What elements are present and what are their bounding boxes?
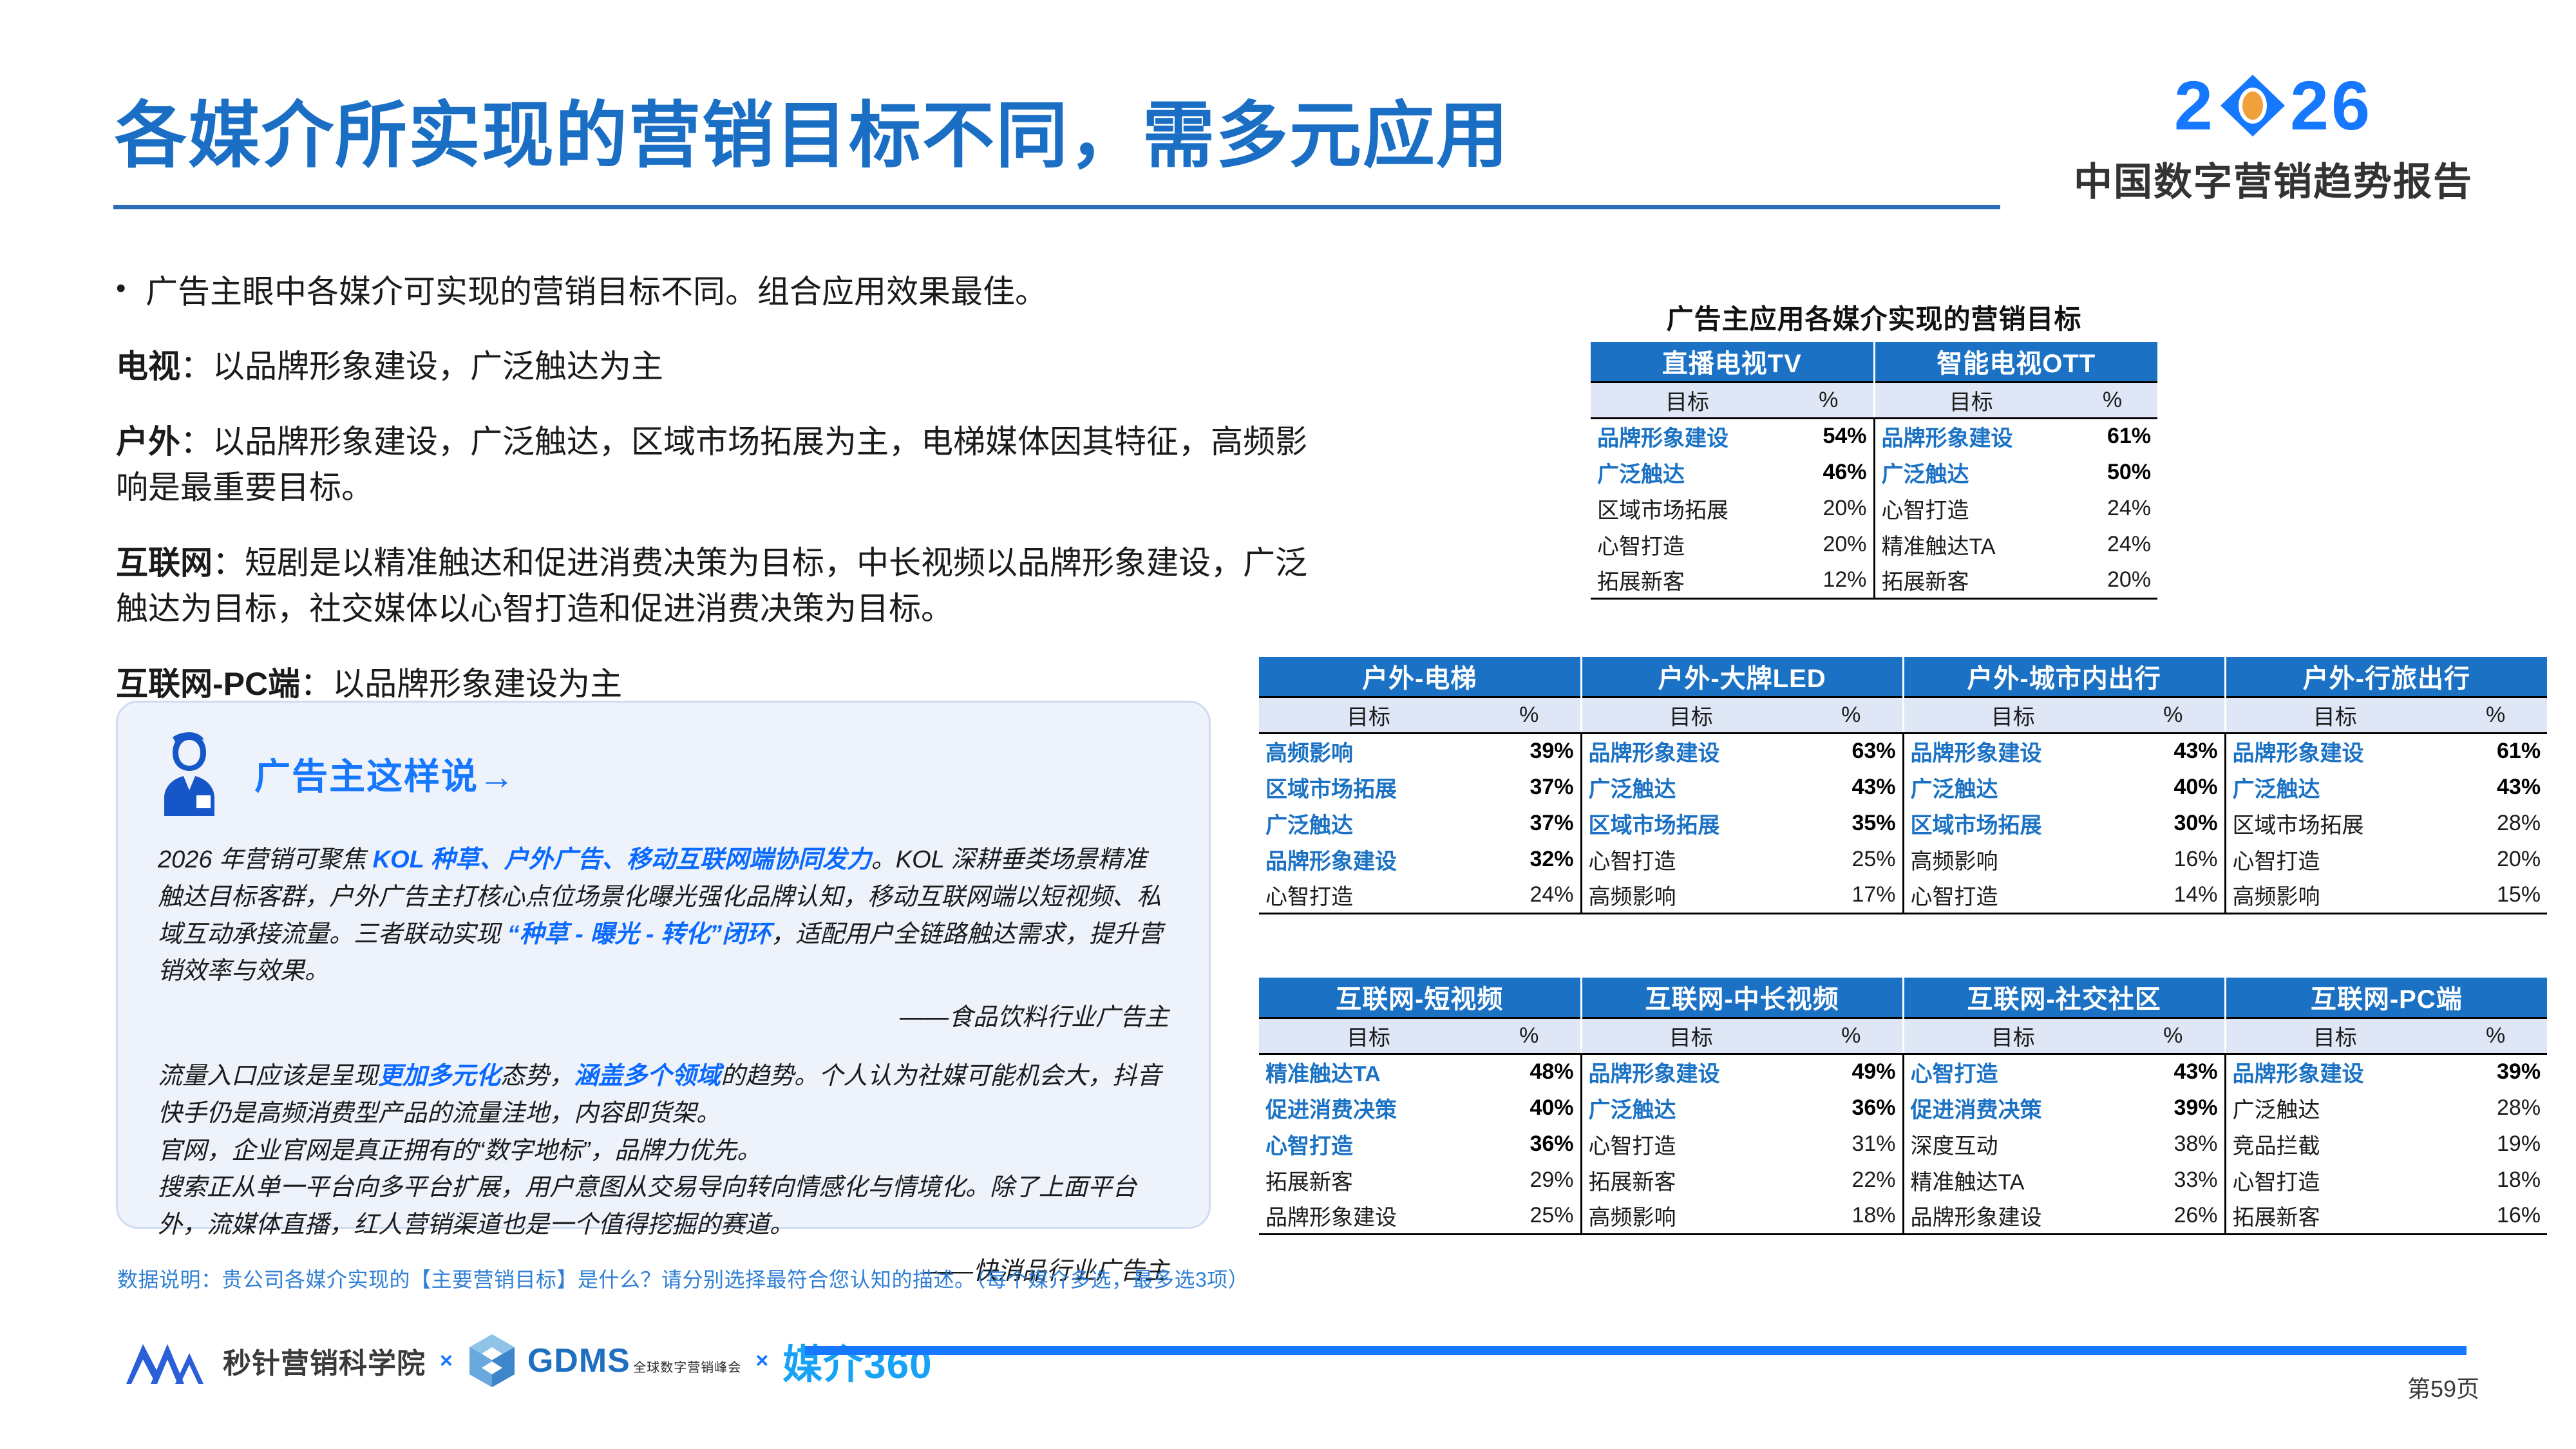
row-value: 20% [1784,526,1874,562]
subheader-goal-1: 目标 [1874,382,2067,418]
row-label: 品牌形象建设 [2225,733,2444,769]
row-value: 35% [1800,805,1903,841]
row-label: 心智打造 [2225,1162,2444,1198]
row-label: 促进消费决策 [1259,1090,1478,1126]
row-value: 19% [2444,1126,2547,1162]
row-label: 高频影响 [1903,841,2122,877]
advertiser-avatar-icon [151,731,227,816]
row-value: 18% [2444,1162,2547,1198]
para-internet-pc-text: 以品牌形象建设为主 [332,666,622,702]
title-divider [113,205,2000,209]
row-value: 61% [2444,733,2547,769]
row-label: 心智打造 [1581,841,1800,877]
table-row: 高频影响39%品牌形象建设63%品牌形象建设43%品牌形象建设61% [1259,733,2547,769]
left-text-column: • 广告主眼中各媒介可实现的营销目标不同。组合应用效果最佳。 电视：以品牌形象建… [116,270,1327,707]
row-value: 22% [1800,1162,1903,1198]
row-value: 29% [1478,1162,1581,1198]
subheader-goal-2: 目标 [1903,697,2122,733]
row-value: 38% [2122,1126,2225,1162]
row-label: 拓展新客 [1259,1162,1478,1198]
table-header-row: 互联网-短视频互联网-中长视频互联网-社交社区互联网-PC端 [1259,978,2547,1018]
row-label: 精准触达TA [1259,1054,1478,1090]
table-header-0: 户外-电梯 [1259,657,1581,697]
brand-year-left: 2 [2174,71,2215,140]
gdms-label: GDMS [527,1342,630,1379]
row-value: 18% [1800,1198,1903,1234]
table-row: 促进消费决策40%广泛触达36%促进消费决策39%广泛触达28% [1259,1090,2547,1126]
row-value: 16% [2444,1198,2547,1234]
row-label: 广泛触达 [1591,454,1784,490]
subheader-pct-0: % [1784,382,1874,418]
row-label: 深度互动 [1903,1126,2122,1162]
table-row: 广泛触达37%区域市场拓展35%区域市场拓展30%区域市场拓展28% [1259,805,2547,841]
bullet-line: • 广告主眼中各媒介可实现的营销目标不同。组合应用效果最佳。 [116,270,1327,314]
subheader-pct-3: % [2444,697,2547,733]
row-value: 17% [1800,877,1903,913]
row-label: 品牌形象建设 [1581,1054,1800,1090]
row-value: 28% [2444,1090,2547,1126]
media-goals-table-outdoor: 户外-电梯户外-大牌LED户外-城市内出行户外-行旅出行目标%目标%目标%目标%… [1259,657,2547,914]
eye-logo-icon [2218,73,2287,138]
row-label: 广泛触达 [1903,769,2122,805]
row-value: 54% [1784,418,1874,454]
gdms-mark-icon [467,1333,517,1388]
row-label: 品牌形象建设 [1591,418,1784,454]
row-label: 品牌形象建设 [1581,733,1800,769]
row-label: 广泛触达 [2225,1090,2444,1126]
gdms-sublabel: 全球数字营销峰会 [633,1361,741,1375]
data-note: 数据说明：贵公司各媒介实现的【主要营销目标】是什么？请分别选择最符合您认知的描述… [117,1264,1249,1293]
subheader-pct-1: % [1800,697,1903,733]
row-label: 心智打造 [1581,1126,1800,1162]
row-value: 43% [2122,1054,2225,1090]
table-header-3: 互联网-PC端 [2225,978,2547,1018]
row-label: 心智打造 [1259,877,1478,913]
row-label: 品牌形象建设 [1259,841,1478,877]
table-header-row: 直播电视TV智能电视OTT [1591,342,2157,382]
row-value: 46% [1784,454,1874,490]
quote-spacer [158,1032,1169,1058]
row-value: 43% [1800,769,1903,805]
row-label: 拓展新客 [1874,562,2067,598]
subheader-pct-3: % [2444,1018,2547,1054]
row-value: 43% [2122,733,2225,769]
para-outdoor-sep: ： [180,424,213,460]
subheader-pct-2: % [2122,1018,2225,1054]
report-brand: 2 26 中国数字营销趋势报告 [2067,71,2479,207]
row-label: 高频影响 [1259,733,1478,769]
row-value: 36% [1478,1126,1581,1162]
subheader-goal-3: 目标 [2225,1018,2444,1054]
para-tv-text: 以品牌形象建设，广泛触达为主 [213,348,663,384]
subheader-goal-1: 目标 [1581,1018,1800,1054]
row-value: 28% [2444,805,2547,841]
row-label: 品牌形象建设 [1259,1198,1478,1234]
para-tv-sep: ： [180,348,213,384]
bullet-text: 广告主眼中各媒介可实现的营销目标不同。组合应用效果最佳。 [146,270,1047,314]
q2-seg-6: 搜索正从单一平台向多平台扩展，用户意图从交易导向转向情感化与情境化。除了上面平台… [158,1174,1137,1238]
row-label: 广泛触达 [2225,769,2444,805]
brand-subtitle: 中国数字营销趋势报告 [2067,151,2479,207]
row-value: 40% [2122,769,2225,805]
row-label: 心智打造 [1903,877,2122,913]
table-row: 品牌形象建设25%高频影响18%品牌形象建设26%拓展新客16% [1259,1198,2547,1234]
quote-body: 2026 年营销可聚焦 KOL 种草、户外广告、移动互联网端协同发力。KOL 深… [118,816,1209,1286]
para-internet-pc-label: 互联网-PC端 [116,666,300,702]
gdms-logo: GDMS 全球数字营销峰会 [467,1333,741,1388]
q2-seg-2: 态势， [500,1063,574,1090]
subheader-pct-1: % [1800,1018,1903,1054]
bullet-dot-icon: • [116,270,146,306]
subheader-goal-1: 目标 [1581,697,1800,733]
row-value: 31% [1800,1126,1903,1162]
para-internet: 互联网：短剧是以精准触达和促进消费决策为目标，中长视频以品牌形象建设，广泛触达为… [116,540,1327,632]
row-value: 14% [2122,877,2225,913]
table-row: 品牌形象建设54%品牌形象建设61% [1591,418,2157,454]
subheader-pct-0: % [1478,1018,1581,1054]
subheader-goal-2: 目标 [1903,1018,2122,1054]
footer-divider [805,1346,2467,1355]
row-label: 心智打造 [1259,1126,1478,1162]
row-value: 24% [2067,490,2157,526]
table-group-outdoor: 户外-电梯户外-大牌LED户外-城市内出行户外-行旅出行目标%目标%目标%目标%… [1259,657,2547,914]
table-row: 拓展新客29%拓展新客22%精准触达TA33%心智打造18% [1259,1162,2547,1198]
row-label: 广泛触达 [1581,1090,1800,1126]
mediajie360-label: 媒介360 [782,1332,932,1390]
q2-seg-5: 官网，企业官网是真正拥有的“数字地标”，品牌力优先。 [158,1137,761,1164]
row-value: 24% [1478,877,1581,913]
row-label: 促进消费决策 [1903,1090,2122,1126]
para-tv: 电视：以品牌形象建设，广泛触达为主 [116,344,1327,390]
table-group-internet: 互联网-短视频互联网-中长视频互联网-社交社区互联网-PC端目标%目标%目标%目… [1259,978,2547,1235]
table-header-row: 户外-电梯户外-大牌LED户外-城市内出行户外-行旅出行 [1259,657,2547,697]
row-value: 20% [1784,490,1874,526]
q2-seg-3: 涵盖多个领域 [574,1063,721,1090]
table-row: 区域市场拓展37%广泛触达43%广泛触达40%广泛触达43% [1259,769,2547,805]
miaozhen-label: 秒针营销科学院 [223,1340,426,1381]
row-value: 33% [2122,1162,2225,1198]
subheader-goal-0: 目标 [1259,1018,1478,1054]
para-outdoor-label: 户外 [116,424,180,460]
row-value: 39% [2444,1054,2547,1090]
row-label: 品牌形象建设 [1874,418,2067,454]
page-number: 第59页 [2407,1370,2479,1404]
para-outdoor: 户外：以品牌形象建设，广泛触达，区域市场拓展为主，电梯媒体因其特征，高频影响是最… [116,419,1327,511]
table-row: 区域市场拓展20%心智打造24% [1591,490,2157,526]
table-header-1: 智能电视OTT [1874,342,2157,382]
para-internet-sep: ： [213,545,245,581]
row-label: 拓展新客 [1581,1162,1800,1198]
row-label: 拓展新客 [2225,1198,2444,1234]
row-label: 广泛触达 [1874,454,2067,490]
row-label: 区域市场拓展 [2225,805,2444,841]
row-value: 12% [1784,562,1874,598]
row-value: 40% [1478,1090,1581,1126]
table-row: 心智打造36%心智打造31%深度互动38%竞品拦截19% [1259,1126,2547,1162]
miaozhen-mark-icon [122,1335,206,1387]
row-value: 36% [1800,1090,1903,1126]
row-label: 区域市场拓展 [1259,769,1478,805]
para-tv-label: 电视 [116,348,180,384]
row-value: 61% [2067,418,2157,454]
brand-year: 2 26 [2067,71,2479,140]
table-header-1: 户外-大牌LED [1581,657,1903,697]
row-value: 16% [2122,841,2225,877]
row-label: 心智打造 [1903,1054,2122,1090]
row-label: 心智打造 [2225,841,2444,877]
table-group-tv: 广告主应用各媒介实现的营销目标 直播电视TV智能电视OTT目标%目标%品牌形象建… [1591,298,2157,600]
footer-logo-bar: 秒针营销科学院 × GDMS 全球数字营销峰会 × 媒介360 [122,1327,933,1395]
row-value: 32% [1478,841,1581,877]
table-subheader-row: 目标%目标%目标%目标% [1259,697,2547,733]
table-row: 品牌形象建设32%心智打造25%高频影响16%心智打造20% [1259,841,2547,877]
table-header-2: 互联网-社交社区 [1903,978,2225,1018]
row-value: 49% [1800,1054,1903,1090]
para-internet-pc: 互联网-PC端：以品牌形象建设为主 [116,661,1327,707]
quote-card-header: 广告主这样说→ [118,703,1209,816]
row-label: 品牌形象建设 [2225,1054,2444,1090]
row-label: 拓展新客 [1591,562,1784,598]
miaozhen-logo: 秒针营销科学院 [122,1335,426,1387]
subheader-goal-3: 目标 [2225,697,2444,733]
row-value: 20% [2444,841,2547,877]
q1-seg-0: 2026 年营销可聚焦 [158,846,373,873]
table-row: 心智打造20%精准触达TA24% [1591,526,2157,562]
row-value: 48% [1478,1054,1581,1090]
row-value: 50% [2067,454,2157,490]
row-value: 37% [1478,805,1581,841]
media-goals-table-internet: 互联网-短视频互联网-中长视频互联网-社交社区互联网-PC端目标%目标%目标%目… [1259,978,2547,1235]
row-value: 26% [2122,1198,2225,1234]
subheader-goal-0: 目标 [1591,382,1784,418]
row-label: 高频影响 [1581,877,1800,913]
logo-separator-2: × [755,1349,768,1374]
table-header-0: 互联网-短视频 [1259,978,1581,1018]
subheader-pct-0: % [1478,697,1581,733]
slide-root: 各媒介所实现的营销目标不同，需多元应用 2 26 中国数字营销趋势报告 • 广告… [0,0,2576,1449]
row-value: 39% [1478,733,1581,769]
row-value: 20% [2067,562,2157,598]
para-internet-text: 短剧是以精准触达和促进消费决策为目标，中长视频以品牌形象建设，广泛触达为目标，社… [116,545,1307,627]
row-label: 精准触达TA [1874,526,2067,562]
row-label: 品牌形象建设 [1903,733,2122,769]
row-label: 广泛触达 [1581,769,1800,805]
para-internet-pc-sep: ： [300,666,332,702]
row-value: 43% [2444,769,2547,805]
subheader-goal-0: 目标 [1259,697,1478,733]
row-label: 高频影响 [1581,1198,1800,1234]
advertiser-quote-card: 广告主这样说→ 2026 年营销可聚焦 KOL 种草、户外广告、移动互联网端协同… [116,701,1211,1229]
row-value: 15% [2444,877,2547,913]
media-goals-table-tv: 直播电视TV智能电视OTT目标%目标%品牌形象建设54%品牌形象建设61%广泛触… [1591,342,2157,600]
row-label: 品牌形象建设 [1903,1198,2122,1234]
table-subheader-row: 目标%目标% [1591,382,2157,418]
q2-seg-0: 流量入口应该是呈现 [158,1063,378,1090]
para-outdoor-text: 以品牌形象建设，广泛触达，区域市场拓展为主，电梯媒体因其特征，高频影响是最重要目… [116,424,1307,506]
logo-separator-1: × [440,1349,453,1374]
row-label: 广泛触达 [1259,805,1478,841]
row-label: 心智打造 [1874,490,2067,526]
row-label: 高频影响 [2225,877,2444,913]
table-row: 心智打造24%高频影响17%心智打造14%高频影响15% [1259,877,2547,913]
table-subheader-row: 目标%目标%目标%目标% [1259,1018,2547,1054]
quote-1-attribution: ——食品饮料行业广告主 [158,997,1169,1032]
subheader-pct-1: % [2067,382,2157,418]
row-value: 25% [1478,1198,1581,1234]
brand-year-right: 26 [2290,71,2372,140]
row-value: 24% [2067,526,2157,562]
row-label: 精准触达TA [1903,1162,2122,1198]
quote-1-text: 2026 年营销可聚焦 KOL 种草、户外广告、移动互联网端协同发力。KOL 深… [158,842,1169,990]
row-label: 心智打造 [1591,526,1784,562]
quote-header-label: 广告主这样说→ [254,748,516,800]
quote-2-text: 流量入口应该是呈现更加多元化态势，涵盖多个领域的趋势。个人认为社媒可能机会大，抖… [158,1058,1169,1244]
row-label: 竞品拦截 [2225,1126,2444,1162]
table-header-1: 互联网-中长视频 [1581,978,1903,1018]
table-header-2: 户外-城市内出行 [1903,657,2225,697]
q2-seg-1: 更加多元化 [378,1063,500,1090]
table-row: 广泛触达46%广泛触达50% [1591,454,2157,490]
q1-seg-3: “种草 - 曝光 - 转化”闭环 [507,921,772,948]
row-value: 39% [2122,1090,2225,1126]
table-row: 精准触达TA48%品牌形象建设49%心智打造43%品牌形象建设39% [1259,1054,2547,1090]
tables-main-title: 广告主应用各媒介实现的营销目标 [1591,298,2157,337]
para-internet-label: 互联网 [116,545,213,581]
table-header-0: 直播电视TV [1591,342,1874,382]
table-header-3: 户外-行旅出行 [2225,657,2547,697]
row-label: 区域市场拓展 [1591,490,1784,526]
page-title: 各媒介所实现的营销目标不同，需多元应用 [115,77,1510,182]
row-value: 25% [1800,841,1903,877]
q1-seg-1: KOL 种草、户外广告、移动互联网端协同发力 [373,846,871,873]
row-label: 区域市场拓展 [1581,805,1800,841]
row-label: 区域市场拓展 [1903,805,2122,841]
table-row: 拓展新客12%拓展新客20% [1591,562,2157,598]
subheader-pct-2: % [2122,697,2225,733]
row-value: 63% [1800,733,1903,769]
row-value: 30% [2122,805,2225,841]
row-value: 37% [1478,769,1581,805]
